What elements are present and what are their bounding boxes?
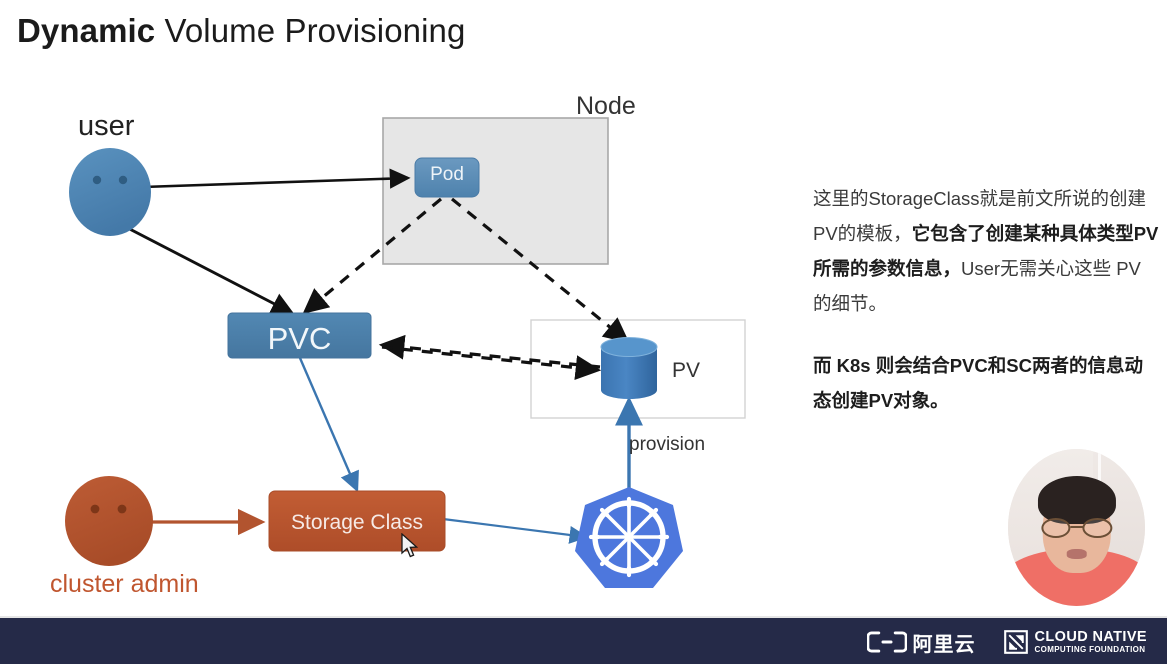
cncf-line-1: CLOUD NATIVE — [1035, 630, 1147, 645]
provision-edge-label: provision — [629, 434, 705, 456]
pod-label: Pod — [415, 164, 479, 186]
pvc-label: PVC — [228, 321, 371, 357]
edge-user-to-pvc — [122, 225, 292, 313]
pv-cylinder[interactable] — [601, 338, 657, 400]
actor-user — [69, 148, 151, 236]
actor-cluster-admin — [65, 476, 153, 566]
avatar-glasses-bridge — [1070, 526, 1083, 528]
edge-user-to-pod — [143, 178, 408, 187]
pv-label: PV — [672, 359, 700, 383]
alibaba-cloud-mark-icon — [867, 631, 907, 653]
user-label: user — [78, 110, 134, 143]
explanation-paragraph-2: 而 K8s 则会结合PVC和SC两者的信息动态创建PV对象。 — [813, 348, 1159, 418]
cncf-logo: CLOUD NATIVE COMPUTING FOUNDATION — [1004, 630, 1147, 655]
avatar-glasses-lens-left — [1041, 518, 1071, 538]
explanation-paragraph-1: 这里的StorageClass就是前文所说的创建PV的模板，它包含了创建某种具体… — [813, 181, 1159, 321]
bottom-branding-bar: 阿里云 CLOUD NATIVE COMPUTING FOUNDATION — [0, 618, 1167, 664]
cncf-line-2: COMPUTING FOUNDATION — [1035, 646, 1147, 654]
mouse-cursor-icon — [401, 533, 419, 559]
cncf-wordmark: CLOUD NATIVE COMPUTING FOUNDATION — [1035, 630, 1147, 655]
node-label: Node — [576, 92, 636, 121]
explanation-p2-normal: 而 K8s — [813, 355, 876, 376]
cluster-admin-label: cluster admin — [50, 570, 199, 599]
presenter-webcam-avatar — [1008, 449, 1145, 606]
alibaba-cloud-wordmark: 阿里云 — [913, 628, 976, 657]
edge-pvc-to-storageclass — [300, 358, 357, 490]
avatar-glasses-lens-right — [1082, 518, 1112, 538]
storage-class-label: Storage Class — [269, 511, 445, 535]
slide-canvas: Dynamic Volume Provisioning — [0, 0, 1167, 664]
alibaba-cloud-logo: 阿里云 — [867, 628, 976, 657]
avatar-glasses — [1041, 518, 1112, 538]
kubernetes-logo-icon — [575, 487, 683, 588]
explanation-text: 这里的StorageClass就是前文所说的创建PV的模板，它包含了创建某种具体… — [813, 181, 1159, 418]
avatar-mouth — [1066, 549, 1087, 558]
avatar-hair — [1037, 476, 1115, 525]
edge-storageclass-to-kubernetes — [443, 519, 586, 537]
cncf-mark-icon — [1004, 630, 1028, 654]
brand-logo-row: 阿里云 CLOUD NATIVE COMPUTING FOUNDATION — [867, 626, 1147, 658]
